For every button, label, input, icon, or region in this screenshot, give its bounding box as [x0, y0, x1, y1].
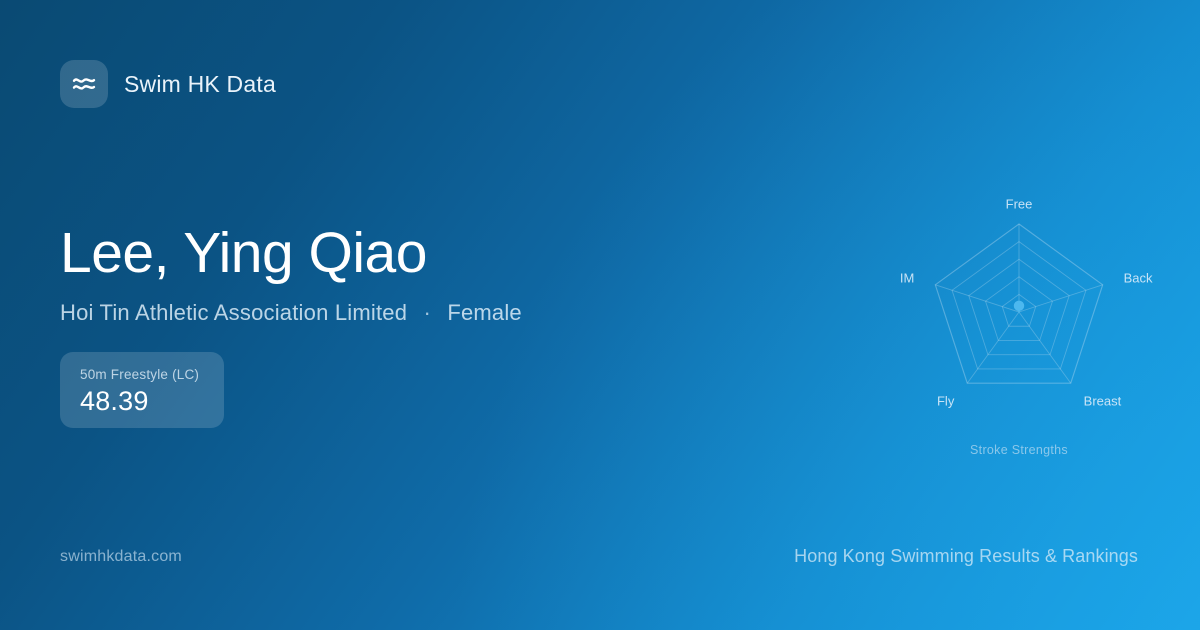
radar-chart-svg: FreeBackBreastFlyIM [879, 172, 1159, 452]
radar-axis-label-back: Back [1124, 271, 1153, 286]
athlete-hero: Lee, Ying Qiao Hoi Tin Athletic Associat… [60, 222, 522, 326]
footer-site-url: swimhkdata.com [60, 548, 182, 566]
brand-name: Swim HK Data [124, 71, 276, 98]
stroke-strengths-radar: FreeBackBreastFlyIM Stroke Strengths [879, 172, 1159, 472]
stat-card-label: 50m Freestyle (LC) [80, 367, 206, 382]
wave-icon [60, 60, 108, 108]
radar-caption: Stroke Strengths [879, 443, 1159, 457]
stat-card-value: 48.39 [80, 387, 206, 415]
page-title: Lee, Ying Qiao [60, 222, 522, 286]
meta-separator: · [423, 300, 431, 326]
radar-axis-label-free: Free [1006, 197, 1033, 212]
athlete-meta: Hoi Tin Athletic Association Limited · F… [60, 300, 522, 326]
radar-axis-label-im: IM [900, 271, 914, 286]
athlete-club: Hoi Tin Athletic Association Limited [60, 300, 407, 325]
share-card: Swim HK Data Lee, Ying Qiao Hoi Tin Athl… [0, 0, 1200, 630]
radar-axis-label-fly: Fly [937, 393, 955, 408]
stat-card: 50m Freestyle (LC) 48.39 [60, 352, 224, 428]
athlete-gender: Female [447, 300, 522, 325]
brand-header: Swim HK Data [60, 60, 276, 108]
footer-tagline: Hong Kong Swimming Results & Rankings [794, 546, 1138, 567]
radar-axis-label-breast: Breast [1084, 393, 1122, 408]
